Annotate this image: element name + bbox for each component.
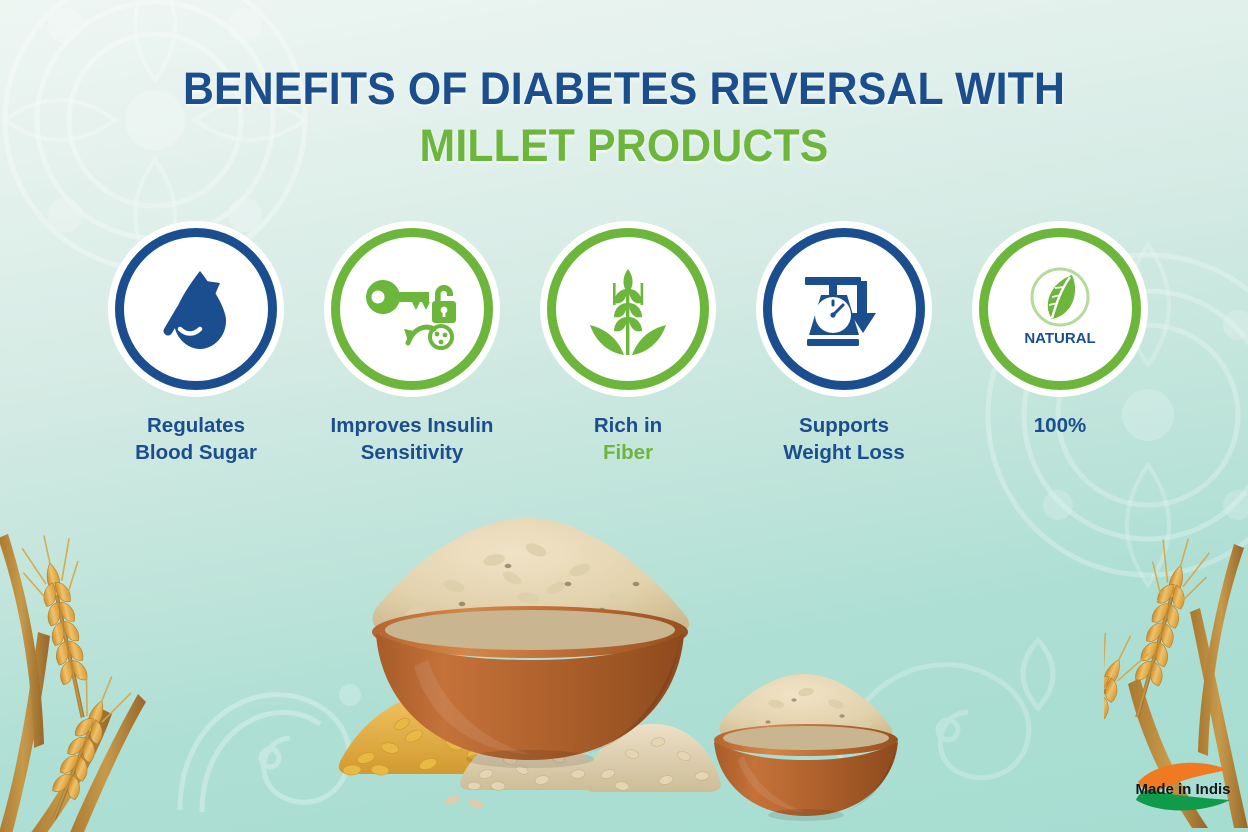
wheat-stalk-icon [580, 259, 676, 359]
benefit-caption: Rich in Fiber [594, 412, 662, 466]
millet-bowls-illustration [336, 508, 916, 832]
natural-label: NATURAL [1024, 330, 1095, 347]
title-line-2: MILLET PRODUCTS [31, 123, 1217, 168]
caption-line-2: Weight Loss [783, 441, 905, 464]
benefit-icon-circle [115, 228, 277, 390]
water-drop-trend-up-icon [148, 261, 244, 357]
badge-text: Made in Indis [1135, 781, 1230, 798]
caption-line-1: Rich in [594, 414, 662, 437]
poster-canvas: BENEFITS OF DIABETES REVERSAL WITH MILLE… [0, 0, 1248, 832]
caption-line-1: Supports [799, 414, 889, 437]
caption-line-2: Fiber [603, 441, 653, 464]
benefit-supports-weight-loss[interactable]: Supports Weight Loss [756, 228, 932, 466]
key-unlock-cell-icon [362, 261, 462, 357]
benefit-caption: Regulates Blood Sugar [135, 412, 257, 466]
caption-line-2: Blood Sugar [135, 441, 257, 464]
benefits-row: Regulates Blood Sugar [108, 228, 1148, 466]
benefit-icon-circle [331, 228, 493, 390]
benefit-rich-in-fiber[interactable]: Rich in Fiber [540, 228, 716, 466]
small-millet-bowl [714, 674, 898, 821]
poster-title: BENEFITS OF DIABETES REVERSAL WITH MILLE… [0, 66, 1248, 168]
benefit-improves-insulin-sensitivity[interactable]: Improves Insulin Sensitivity [324, 228, 500, 466]
caption-line-1: Regulates [147, 414, 245, 437]
caption-line-2: Sensitivity [361, 441, 464, 464]
wheat-stalks-left [0, 512, 148, 832]
benefit-caption: 100% [1034, 412, 1086, 439]
caption-line-1: Improves Insulin [331, 414, 494, 437]
made-in-india-badge[interactable]: Made in Indis [1124, 756, 1242, 826]
natural-leaf-icon: NATURAL [1008, 257, 1112, 361]
weighing-scale-down-arrow-icon [795, 263, 893, 355]
benefit-regulates-blood-sugar[interactable]: Regulates Blood Sugar [108, 228, 284, 466]
benefit-icon-circle: NATURAL [979, 228, 1141, 390]
benefit-caption: Improves Insulin Sensitivity [331, 412, 494, 466]
benefit-caption: Supports Weight Loss [783, 412, 905, 466]
benefit-icon-circle [763, 228, 925, 390]
caption-line-1: 100% [1034, 414, 1086, 437]
benefit-100-percent-natural[interactable]: NATURAL 100% [972, 228, 1148, 466]
title-line-1: BENEFITS OF DIABETES REVERSAL WITH [31, 66, 1217, 111]
benefit-icon-circle [547, 228, 709, 390]
